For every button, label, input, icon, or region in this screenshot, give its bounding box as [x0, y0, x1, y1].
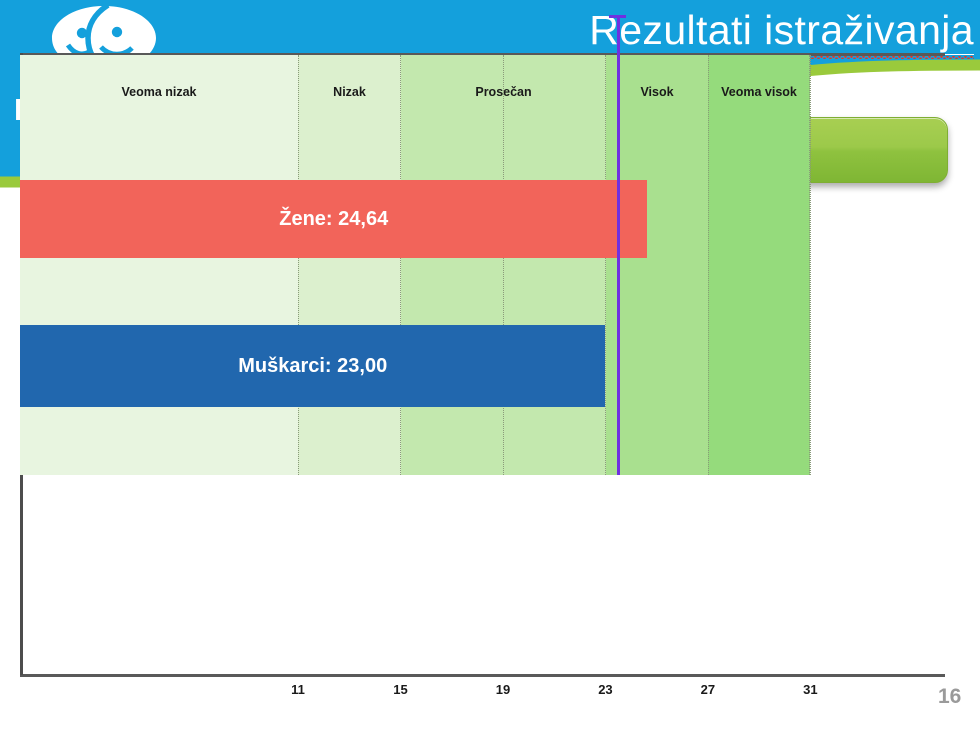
chart-band-label: Veoma visok: [708, 85, 810, 99]
chart-bar-label: Muškarci: 23,00: [238, 355, 387, 378]
chart-band-label: Visok: [606, 85, 708, 99]
plot-area: Veoma nizakNizakProsečanVisokVeoma visok…: [20, 55, 810, 475]
chart-average-reference-cap: [609, 15, 626, 18]
page-title: Rezultati istraživanja: [589, 4, 974, 56]
chart-tick-label-27: 27: [688, 682, 728, 697]
chart-bar-label: Žene: 24,64: [279, 208, 388, 231]
chart-gridline-15: [400, 55, 401, 475]
chart-tick-label-19: 19: [483, 682, 523, 697]
chart-band-2: Nizak: [298, 55, 401, 475]
slide-number: 16: [938, 685, 961, 709]
chart-tick-label-11: 11: [278, 682, 318, 697]
chart-tick-label-31: 31: [790, 682, 830, 697]
chart-tick-label-15: 15: [380, 682, 420, 697]
chart-tick-label-23: 23: [585, 682, 625, 697]
chart-band-1: Veoma nizak: [20, 55, 298, 475]
chart-band-4: Visok: [606, 55, 708, 475]
chart-gridline-27: [708, 55, 709, 475]
plot-bottom-axis-line: [20, 674, 945, 677]
chart-gridline-19: [503, 55, 504, 475]
chart-bar-muškarci: Muškarci: 23,00: [20, 325, 605, 407]
chart-gridline-11: [298, 55, 299, 475]
chart-gridline-right-edge: [809, 55, 810, 475]
chart-band-5: Veoma visok: [708, 55, 810, 475]
chart-gridline-31: [810, 55, 811, 475]
chart-band-label: Nizak: [298, 85, 401, 99]
chart-bar-žene: Žene: 24,64: [20, 180, 647, 258]
chart-band-label: Veoma nizak: [20, 85, 298, 99]
page-title-text: Rezultati istraživanja: [589, 7, 974, 55]
chart-gridline-23: [605, 55, 606, 475]
chart-average-reference-line: [617, 15, 620, 475]
